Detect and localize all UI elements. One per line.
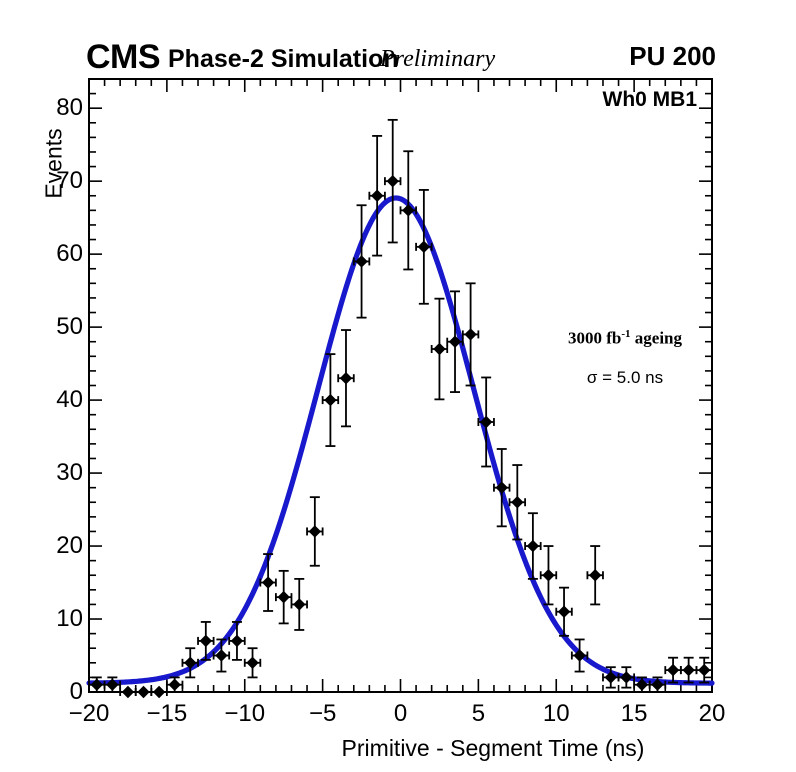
data-point-marker [682,664,694,676]
x-tick-label: 20 [699,700,726,728]
data-point-marker [698,664,710,676]
y-tick-label: 80 [23,94,83,122]
y-tick-label: 60 [23,240,83,268]
data-point-marker [309,525,321,537]
data-point-marker [667,664,679,676]
data-point-marker [511,496,523,508]
y-tick-label: 0 [23,678,83,706]
data-point-marker [168,679,180,691]
data-point-marker [153,686,165,698]
data-point-marker [293,598,305,610]
data-point-marker [542,569,554,581]
data-point-marker [262,576,274,588]
y-tick-label: 20 [23,532,83,560]
x-tick-label: −5 [309,700,336,728]
x-tick-label: 10 [543,700,570,728]
data-point-marker [340,372,352,384]
y-tick-label: 30 [23,459,83,487]
x-tick-label: 5 [472,700,485,728]
x-tick-label: 0 [394,700,407,728]
data-point-marker [527,540,539,552]
data-point-marker [433,343,445,355]
data-point-marker [558,606,570,618]
plot-page: CMS Phase-2 Simulation Preliminary PU 20… [0,0,796,772]
data-point-marker [620,671,632,683]
data-point-marker [589,569,601,581]
data-point-marker [277,591,289,603]
data-point-marker [464,328,476,340]
data-point-marker [122,686,134,698]
data-point-marker [231,635,243,647]
data-point-marker [371,190,383,202]
data-point-marker [324,394,336,406]
x-tick-label: 15 [621,700,648,728]
data-point-marker [137,686,149,698]
x-tick-label: −15 [147,700,188,728]
y-tick-label: 40 [23,386,83,414]
x-tick-label: −10 [224,700,265,728]
plot-canvas [0,0,796,772]
data-point-marker [387,175,399,187]
y-tick-label: 10 [23,605,83,633]
gaussian-fit-curve [89,198,712,683]
y-tick-label: 70 [23,167,83,195]
data-point-marker [246,657,258,669]
y-tick-label: 50 [23,313,83,341]
data-point-marker [200,635,212,647]
